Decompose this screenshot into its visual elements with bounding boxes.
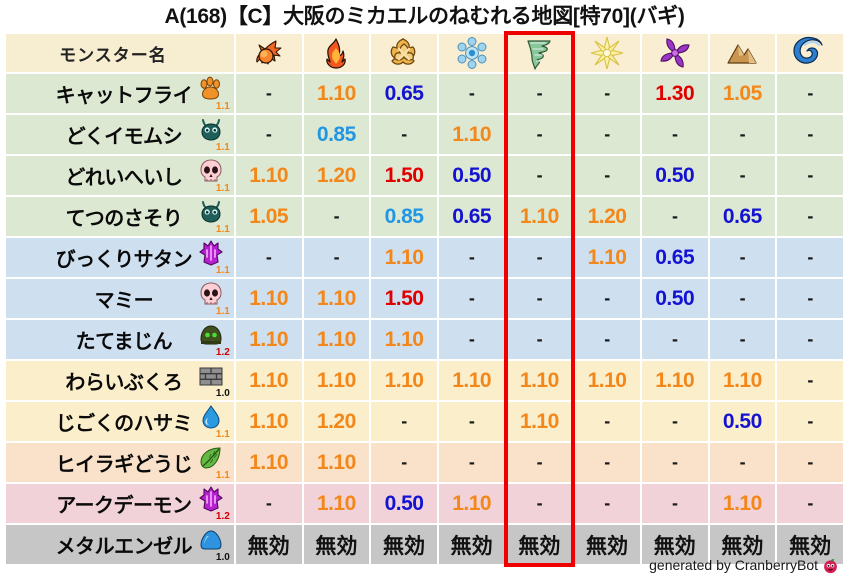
damage-cell: - bbox=[507, 279, 573, 318]
damage-cell: - bbox=[642, 197, 708, 236]
damage-cell: - bbox=[507, 74, 573, 113]
damage-cell: 0.65 bbox=[710, 197, 776, 236]
damage-cell: - bbox=[439, 238, 505, 277]
damage-cell: 無効 bbox=[507, 525, 573, 564]
damage-cell: 0.50 bbox=[710, 402, 776, 441]
header-row: モンスター名 bbox=[6, 34, 843, 72]
damage-cell: 1.20 bbox=[574, 197, 640, 236]
damage-cell: - bbox=[710, 443, 776, 482]
monster-name-cell[interactable]: てつのさそり1.1 bbox=[6, 197, 234, 236]
damage-cell: 無効 bbox=[439, 525, 505, 564]
damage-cell: - bbox=[574, 320, 640, 359]
damage-cell: - bbox=[710, 156, 776, 195]
table-row: たてまじん1.21.101.101.10------ bbox=[6, 320, 843, 359]
version-badge: 1.1 bbox=[216, 266, 230, 276]
damage-cell: - bbox=[710, 238, 776, 277]
damage-cell: - bbox=[642, 443, 708, 482]
damage-cell: - bbox=[777, 443, 843, 482]
damage-cell: 1.10 bbox=[236, 320, 302, 359]
version-badge: 1.1 bbox=[216, 225, 230, 235]
element-header-explosion-icon[interactable] bbox=[371, 34, 437, 72]
monster-name-label: キャットフライ bbox=[56, 79, 193, 108]
starburst-icon bbox=[590, 36, 624, 70]
monster-name-label: てつのさそり bbox=[66, 202, 183, 231]
flame-icon bbox=[319, 36, 353, 70]
damage-cell: - bbox=[777, 402, 843, 441]
damage-cell: 0.50 bbox=[371, 484, 437, 523]
cranberry-icon bbox=[822, 557, 839, 577]
damage-cell: 無効 bbox=[304, 525, 370, 564]
monster-name-cell[interactable]: キャットフライ1.1 bbox=[6, 74, 234, 113]
table-row: てつのさそり1.11.05-0.850.651.101.20-0.65- bbox=[6, 197, 843, 236]
page-title: A(168)【C】大阪のミカエルのねむれる地図[特70](バギ) bbox=[0, 0, 849, 32]
element-header-meteor-fire-icon[interactable] bbox=[236, 34, 302, 72]
damage-cell: - bbox=[507, 320, 573, 359]
damage-cell: - bbox=[236, 74, 302, 113]
damage-matrix-table: モンスター名 キャットフライ1.1-1.100.65---1.301.05-どく… bbox=[4, 32, 845, 566]
damage-cell: 1.10 bbox=[304, 279, 370, 318]
mountain-icon bbox=[725, 36, 759, 70]
bug-icon bbox=[198, 117, 224, 143]
damage-cell: - bbox=[777, 279, 843, 318]
table-row: マミー1.11.101.101.50---0.50-- bbox=[6, 279, 843, 318]
damage-cell: - bbox=[777, 74, 843, 113]
damage-cell: - bbox=[371, 402, 437, 441]
element-header-wave-icon[interactable] bbox=[777, 34, 843, 72]
table-row: キャットフライ1.1-1.100.65---1.301.05- bbox=[6, 74, 843, 113]
meteor-fire-icon bbox=[252, 36, 286, 70]
damage-cell: 1.10 bbox=[236, 361, 302, 400]
damage-cell: 0.65 bbox=[371, 74, 437, 113]
damage-cell: - bbox=[439, 320, 505, 359]
damage-cell: 無効 bbox=[371, 525, 437, 564]
damage-cell: - bbox=[439, 443, 505, 482]
version-badge: 1.1 bbox=[216, 184, 230, 194]
wave-icon bbox=[793, 36, 827, 70]
damage-cell: 1.10 bbox=[574, 361, 640, 400]
version-badge: 1.1 bbox=[216, 471, 230, 481]
damage-cell: - bbox=[304, 238, 370, 277]
damage-cell: - bbox=[777, 156, 843, 195]
monster-name-cell[interactable]: ヒイラギどうじ1.1 bbox=[6, 443, 234, 482]
damage-cell: 1.10 bbox=[439, 115, 505, 154]
damage-cell: 1.10 bbox=[710, 361, 776, 400]
damage-cell: 1.10 bbox=[304, 320, 370, 359]
slime-icon bbox=[198, 527, 224, 553]
snowflake-icon bbox=[455, 36, 489, 70]
monster-name-cell[interactable]: アークデーモン1.2 bbox=[6, 484, 234, 523]
damage-cell: 1.10 bbox=[304, 361, 370, 400]
table-row: わらいぶくろ1.01.101.101.101.101.101.101.101.1… bbox=[6, 361, 843, 400]
damage-cell: - bbox=[371, 443, 437, 482]
table-row: ヒイラギどうじ1.11.101.10------- bbox=[6, 443, 843, 482]
damage-cell: - bbox=[439, 402, 505, 441]
damage-cell: 1.10 bbox=[236, 402, 302, 441]
damage-matrix-container: モンスター名 キャットフライ1.1-1.100.65---1.301.05-どく… bbox=[0, 32, 849, 566]
damage-cell: - bbox=[777, 238, 843, 277]
damage-cell: - bbox=[710, 320, 776, 359]
monster-name-label: じごくのハサミ bbox=[56, 407, 193, 436]
damage-cell: 1.10 bbox=[371, 361, 437, 400]
damage-cell: - bbox=[507, 238, 573, 277]
monster-name-cell[interactable]: マミー1.1 bbox=[6, 279, 234, 318]
damage-cell: 1.10 bbox=[236, 156, 302, 195]
damage-cell: - bbox=[777, 197, 843, 236]
monster-name-label: わらいぶくろ bbox=[65, 366, 182, 395]
element-header-pinwheel-dark-icon[interactable] bbox=[642, 34, 708, 72]
damage-cell: 1.10 bbox=[439, 361, 505, 400]
damage-cell: - bbox=[574, 484, 640, 523]
explosion-icon bbox=[387, 36, 421, 70]
skull-icon bbox=[198, 158, 224, 184]
monster-name-label: どくイモムシ bbox=[66, 120, 182, 149]
pinwheel-dark-icon bbox=[658, 36, 692, 70]
leaf-icon bbox=[198, 445, 224, 471]
damage-cell: - bbox=[642, 402, 708, 441]
damage-cell: 1.10 bbox=[439, 484, 505, 523]
damage-cell: 1.30 bbox=[642, 74, 708, 113]
damage-cell: 1.50 bbox=[371, 156, 437, 195]
paw-icon bbox=[198, 76, 224, 102]
version-badge: 1.1 bbox=[216, 430, 230, 440]
damage-cell: 1.05 bbox=[710, 74, 776, 113]
table-row: びっくりサタン1.1--1.10--1.100.65-- bbox=[6, 238, 843, 277]
footer-credit: generated by CranberryBot bbox=[649, 557, 839, 577]
damage-cell: - bbox=[777, 484, 843, 523]
version-badge: 1.2 bbox=[216, 348, 230, 358]
element-header-mountain-icon[interactable] bbox=[710, 34, 776, 72]
element-header-snowflake-icon[interactable] bbox=[439, 34, 505, 72]
monster-name-cell[interactable]: じごくのハサミ1.1 bbox=[6, 402, 234, 441]
skull-icon bbox=[198, 281, 224, 307]
monster-name-cell[interactable]: どれいへいし1.1 bbox=[6, 156, 234, 195]
damage-cell: 1.10 bbox=[236, 279, 302, 318]
damage-cell: - bbox=[777, 361, 843, 400]
element-header-tornado-icon[interactable] bbox=[507, 34, 573, 72]
damage-cell: - bbox=[439, 279, 505, 318]
monster-name-header: モンスター名 bbox=[6, 34, 234, 72]
monster-name-cell[interactable]: びっくりサタン1.1 bbox=[6, 238, 234, 277]
damage-cell: - bbox=[507, 156, 573, 195]
damage-cell: 1.10 bbox=[371, 320, 437, 359]
bug-icon bbox=[198, 199, 224, 225]
damage-cell: - bbox=[439, 74, 505, 113]
damage-cell: - bbox=[642, 115, 708, 154]
damage-cell: - bbox=[371, 115, 437, 154]
monster-name-label: びっくりサタン bbox=[56, 243, 193, 272]
damage-cell: 0.85 bbox=[304, 115, 370, 154]
damage-cell: - bbox=[777, 115, 843, 154]
damage-cell: - bbox=[574, 156, 640, 195]
damage-cell: 1.50 bbox=[371, 279, 437, 318]
damage-cell: 1.10 bbox=[642, 361, 708, 400]
damage-cell: - bbox=[710, 115, 776, 154]
water-drop-icon bbox=[198, 404, 224, 430]
version-badge: 1.1 bbox=[216, 102, 230, 112]
damage-cell: 無効 bbox=[236, 525, 302, 564]
damage-cell: 0.85 bbox=[371, 197, 437, 236]
table-row: じごくのハサミ1.11.101.20--1.10--0.50- bbox=[6, 402, 843, 441]
monster-name-label: ヒイラギどうじ bbox=[56, 448, 193, 477]
monster-name-label: どれいへいし bbox=[65, 161, 182, 190]
damage-cell: 1.10 bbox=[507, 361, 573, 400]
damage-cell: - bbox=[642, 320, 708, 359]
table-row: どれいへいし1.11.101.201.500.50--0.50-- bbox=[6, 156, 843, 195]
damage-cell: - bbox=[236, 115, 302, 154]
damage-cell: 1.10 bbox=[304, 74, 370, 113]
damage-cell: - bbox=[507, 443, 573, 482]
damage-cell: - bbox=[507, 115, 573, 154]
damage-cell: 1.20 bbox=[304, 402, 370, 441]
damage-cell: - bbox=[574, 74, 640, 113]
monster-name-cell[interactable]: メタルエンゼル1.0 bbox=[6, 525, 234, 564]
damage-cell: 1.10 bbox=[574, 238, 640, 277]
damage-cell: 0.65 bbox=[439, 197, 505, 236]
damage-cell: 1.10 bbox=[236, 443, 302, 482]
damage-cell: 1.10 bbox=[371, 238, 437, 277]
version-badge: 1.1 bbox=[216, 307, 230, 317]
damage-cell: - bbox=[710, 279, 776, 318]
monster-name-cell[interactable]: どくイモムシ1.1 bbox=[6, 115, 234, 154]
version-badge: 1.1 bbox=[216, 143, 230, 153]
table-row: アークデーモン1.2-1.100.501.10---1.10- bbox=[6, 484, 843, 523]
damage-cell: - bbox=[507, 484, 573, 523]
damage-cell: - bbox=[236, 238, 302, 277]
damage-cell: - bbox=[574, 279, 640, 318]
element-header-starburst-icon[interactable] bbox=[574, 34, 640, 72]
damage-cell: - bbox=[236, 484, 302, 523]
damage-cell: 0.50 bbox=[642, 279, 708, 318]
element-header-flame-icon[interactable] bbox=[304, 34, 370, 72]
version-badge: 1.2 bbox=[216, 512, 230, 522]
devil-icon bbox=[198, 486, 224, 512]
damage-cell: 1.10 bbox=[507, 197, 573, 236]
monster-name-label: たてまじん bbox=[76, 325, 173, 354]
damage-cell: 0.50 bbox=[642, 156, 708, 195]
damage-cell: - bbox=[642, 484, 708, 523]
monster-name-label: マミー bbox=[95, 284, 154, 313]
damage-cell: 無効 bbox=[574, 525, 640, 564]
damage-cell: 1.10 bbox=[304, 484, 370, 523]
table-row: どくイモムシ1.1-0.85-1.10----- bbox=[6, 115, 843, 154]
damage-cell: - bbox=[777, 320, 843, 359]
helmet-slime-icon bbox=[198, 322, 224, 348]
damage-cell: - bbox=[304, 197, 370, 236]
monster-name-cell[interactable]: たてまじん1.2 bbox=[6, 320, 234, 359]
damage-cell: 1.10 bbox=[304, 443, 370, 482]
table-header: モンスター名 bbox=[6, 34, 843, 72]
table-body: キャットフライ1.1-1.100.65---1.301.05-どくイモムシ1.1… bbox=[6, 74, 843, 564]
tornado-icon bbox=[522, 36, 556, 70]
damage-cell: - bbox=[574, 115, 640, 154]
damage-cell: 1.05 bbox=[236, 197, 302, 236]
brick-wall-icon bbox=[198, 363, 224, 389]
damage-cell: 0.50 bbox=[439, 156, 505, 195]
damage-cell: - bbox=[574, 443, 640, 482]
devil-icon bbox=[198, 240, 224, 266]
damage-cell: 1.10 bbox=[710, 484, 776, 523]
version-badge: 1.0 bbox=[216, 389, 230, 399]
footer-text: generated by CranberryBot bbox=[649, 557, 818, 573]
damage-cell: 1.10 bbox=[507, 402, 573, 441]
version-badge: 1.0 bbox=[216, 553, 230, 563]
monster-name-label: メタルエンゼル bbox=[56, 530, 193, 559]
monster-name-cell[interactable]: わらいぶくろ1.0 bbox=[6, 361, 234, 400]
damage-cell: 0.65 bbox=[642, 238, 708, 277]
monster-name-label: アークデーモン bbox=[56, 489, 191, 518]
damage-cell: - bbox=[574, 402, 640, 441]
damage-cell: 1.20 bbox=[304, 156, 370, 195]
